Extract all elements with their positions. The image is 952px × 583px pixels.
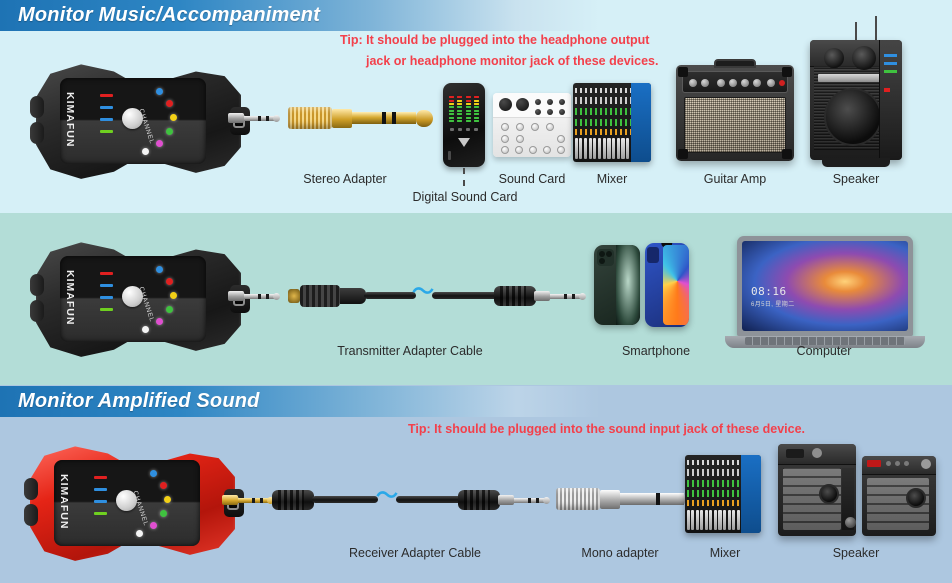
tip-text-music-line2: jack or headphone monitor jack of these … — [366, 51, 658, 72]
mixer-knob-row-2 — [687, 469, 742, 476]
mixer-eq-row-green — [575, 108, 631, 115]
led-channel-3 — [166, 306, 173, 313]
side-button-upper — [24, 478, 38, 500]
callout-line-digital-sound-card — [463, 168, 466, 186]
cable-break-squiggle-row2: 〜 — [412, 281, 434, 303]
label-mixer-row1: Mixer — [577, 172, 647, 186]
mixer-faders[interactable] — [687, 510, 742, 530]
amp-speaker-grille — [684, 97, 786, 153]
smartphone-dark-green — [594, 245, 640, 325]
speaker-top-panel — [862, 456, 936, 475]
mono-adapter-6.35mm — [556, 486, 704, 512]
level-bars — [94, 476, 108, 524]
mixer-eq-row-green — [687, 480, 742, 487]
brand-triangle-icon — [458, 138, 470, 147]
section-title-monitor-amplified: Monitor Amplified Sound — [0, 390, 260, 413]
amp-control-panel — [682, 71, 788, 93]
cable-segment-right — [432, 292, 500, 299]
mixer-aux-row-orange — [575, 129, 631, 135]
pa-speaker-row1 — [810, 40, 902, 160]
led-channel-1 — [142, 148, 149, 155]
label-transmitter-cable: Transmitter Adapter Cable — [290, 344, 530, 358]
side-button-upper — [30, 96, 44, 118]
mixer-console-row1 — [573, 83, 651, 162]
portable-pa-speaker-left — [778, 444, 856, 536]
speaker-woofer-port — [906, 488, 926, 508]
led-channel-4 — [170, 292, 177, 299]
led-channel-3 — [166, 128, 173, 135]
label-mixer-row3: Mixer — [690, 546, 760, 560]
speaker-wheel — [845, 517, 856, 528]
phone-screen — [616, 245, 640, 325]
section-header-monitor-music: Monitor Music/Accompaniment — [0, 0, 600, 31]
plug-3.5mm-cable-end — [534, 290, 590, 302]
speaker-tweeter-right — [852, 46, 876, 70]
receiver-cable-segment-right — [396, 496, 464, 503]
device-face-panel: KIMAFUN CHANNEL — [54, 460, 200, 546]
mixer-master-section — [631, 83, 651, 162]
section-header-monitor-amplified: Monitor Amplified Sound — [0, 386, 600, 417]
device-face-panel: KIMAFUN CHANNEL — [60, 256, 206, 342]
plug-3.5mm-receiver-end — [498, 494, 554, 506]
kimafun-transmitter-black-row2: KIMAFUN CHANNEL — [36, 240, 241, 358]
digital-sound-card — [443, 83, 485, 167]
phone-screen — [663, 245, 689, 325]
cable-segment-left — [364, 292, 416, 299]
smartphone-blue — [645, 243, 689, 327]
level-bars — [100, 94, 114, 142]
speaker-base-stand — [822, 158, 890, 167]
mixer-console-row3 — [685, 455, 761, 533]
label-smartphone: Smartphone — [596, 344, 716, 358]
led-channel-6 — [156, 266, 163, 273]
led-channel-3 — [160, 510, 167, 517]
label-sound-card: Sound Card — [470, 172, 594, 186]
led-channel-2 — [156, 318, 163, 325]
led-channel-5 — [166, 100, 173, 107]
cable-female-jack-left — [288, 285, 368, 307]
label-digital-sound-card: Digital Sound Card — [390, 190, 540, 204]
brand-text: KIMAFUN — [64, 92, 76, 147]
laptop-screen: 08:16 6月5日, 星期二 — [742, 241, 908, 331]
label-computer: Computer — [768, 344, 880, 358]
mixer-eq-row-green2 — [575, 119, 631, 126]
channel-arc-label: CHANNEL — [131, 490, 149, 527]
tip-text-music-line1: Tip: It should be plugged into the headp… — [340, 30, 649, 51]
sound-card-interface — [493, 93, 571, 157]
plug-3.5mm-gold-receiver — [222, 494, 278, 506]
level-bars — [100, 272, 114, 320]
speaker-tweeter-left — [824, 48, 844, 68]
led-channel-5 — [160, 482, 167, 489]
plug-3.5mm-row1 — [228, 112, 284, 124]
tip-text-amplified: Tip: It should be plugged into the sound… — [408, 419, 805, 440]
mixer-knob-row-1 — [575, 88, 631, 94]
label-speaker-row1: Speaker — [800, 172, 912, 186]
led-channel-5 — [166, 278, 173, 285]
guitar-amplifier — [676, 65, 794, 161]
laptop-clock: 08:16 — [751, 285, 787, 298]
label-stereo-adapter: Stereo Adapter — [230, 172, 460, 186]
channel-arc-label: CHANNEL — [137, 286, 155, 323]
side-button-lower — [24, 504, 38, 526]
label-guitar-amp: Guitar Amp — [680, 172, 790, 186]
led-channel-2 — [156, 140, 163, 147]
mixer-master-section — [741, 455, 761, 533]
section-title-monitor-music: Monitor Music/Accompaniment — [0, 4, 320, 27]
receiver-cable-segment-left — [312, 496, 378, 503]
led-channel-1 — [136, 530, 143, 537]
phone-camera-module — [597, 249, 614, 266]
speaker-woofer-port — [819, 484, 839, 504]
mixer-knob-row-2 — [575, 97, 631, 104]
side-port — [448, 151, 451, 160]
mixer-aux-row-orange — [687, 500, 742, 506]
speaker-top-panel — [778, 444, 856, 465]
amp-handle — [714, 59, 756, 68]
channel-arc-label: CHANNEL — [137, 108, 155, 145]
led-meters — [449, 92, 479, 122]
side-button-lower — [30, 122, 44, 144]
speaker-side-control-panel — [879, 40, 902, 160]
mixer-knob-row-1 — [687, 460, 742, 465]
laptop-date: 6月5日, 星期二 — [751, 299, 795, 308]
speaker-woofer — [824, 88, 882, 146]
laptop-lid: 08:16 6月5日, 星期二 — [737, 236, 913, 336]
label-mono-adapter: Mono adapter — [540, 546, 700, 560]
brand-text: KIMAFUN — [64, 270, 76, 325]
indicator-dots — [450, 128, 478, 131]
stereo-adapter-6.35mm — [288, 105, 436, 131]
phone-camera-module — [647, 247, 659, 263]
kimafun-transmitter-black-row1: KIMAFUN CHANNEL — [36, 62, 241, 180]
speaker-antenna-1 — [855, 22, 857, 42]
mixer-faders[interactable] — [575, 138, 631, 159]
led-channel-2 — [150, 522, 157, 529]
brand-text: KIMAFUN — [58, 474, 70, 529]
led-channel-6 — [150, 470, 157, 477]
plug-3.5mm-row2 — [228, 290, 284, 302]
led-channel-4 — [170, 114, 177, 121]
side-button-upper — [30, 274, 44, 296]
speaker-antenna-2 — [875, 16, 877, 42]
device-face-panel: KIMAFUN CHANNEL — [60, 78, 206, 164]
cable-break-squiggle-row3: 〜 — [376, 485, 398, 507]
mixer-eq-row-green2 — [687, 490, 742, 497]
led-channel-6 — [156, 88, 163, 95]
label-receiver-cable: Receiver Adapter Cable — [300, 546, 530, 560]
portable-pa-speaker-right — [862, 456, 936, 536]
label-speaker-row3: Speaker — [800, 546, 912, 560]
side-button-lower — [30, 300, 44, 322]
kimafun-receiver-red: KIMAFUN CHANNEL — [30, 444, 235, 562]
led-channel-4 — [164, 496, 171, 503]
led-channel-1 — [142, 326, 149, 333]
